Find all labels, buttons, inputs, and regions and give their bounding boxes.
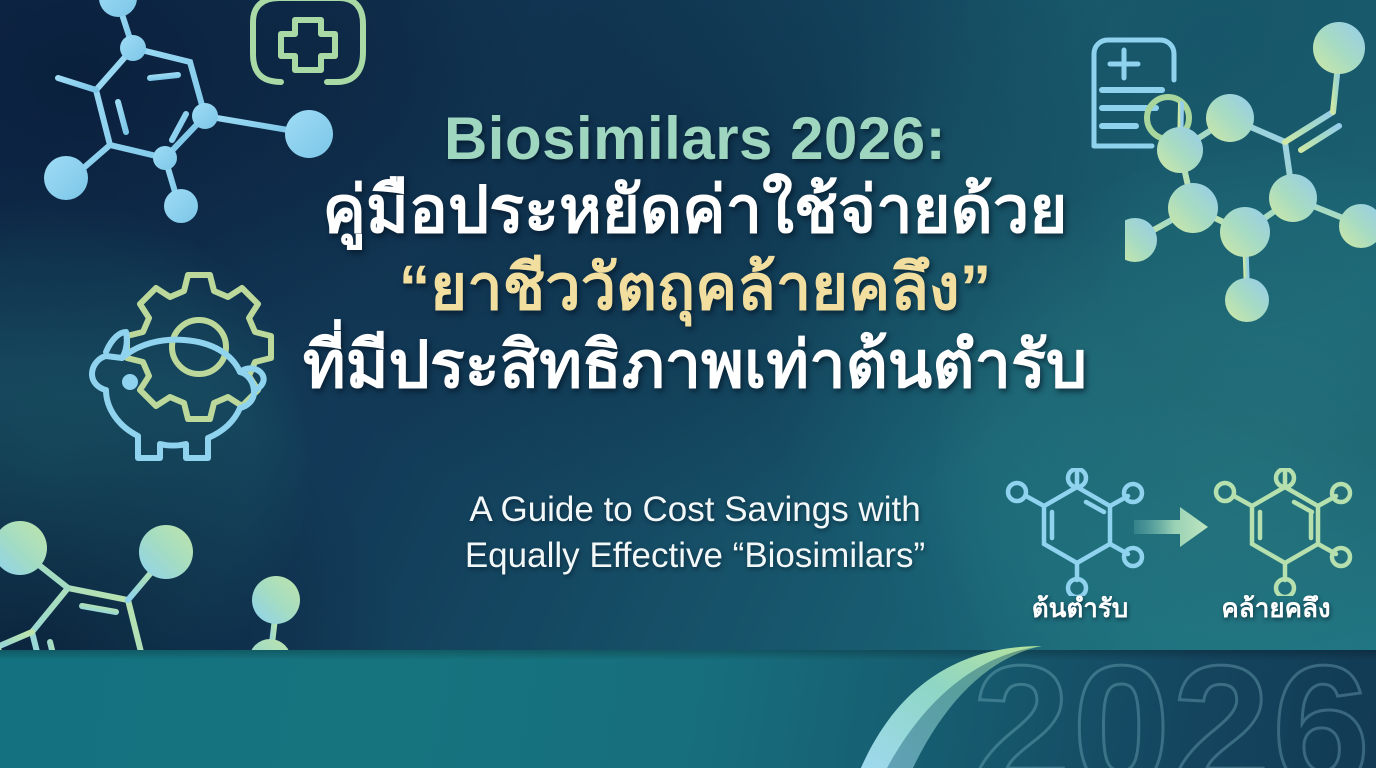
molecule-comparison: ต้นตำรับ คล้ายคลึง <box>1000 468 1370 628</box>
subtitle-line-1: A Guide to Cost Savings with <box>320 487 1070 533</box>
subtitle-line-2: Equally Effective “Biosimilars” <box>320 533 1070 579</box>
poster-content: Biosimilars 2026: คู่มือประหยัดค่าใช้จ่า… <box>0 0 1376 650</box>
title-thai-line-3: ที่มีประสิทธิภาพเท่าต้นตำรับ <box>255 327 1135 404</box>
title-thai-line-2-highlight: “ยาชีววัตถุคล้ายคลึง” <box>255 251 1135 325</box>
biosimilar-label: คล้ายคลึง <box>1188 588 1364 629</box>
arrow-right-icon <box>1132 502 1212 552</box>
title-english: Biosimilars 2026: <box>255 108 1135 170</box>
subtitle-block: A Guide to Cost Savings with Equally Eff… <box>320 487 1070 579</box>
title-thai-line-1: คู่มือประหยัดค่าใช้จ่ายด้วย <box>255 172 1135 249</box>
poster-banner: 2026 Biosimilars 2026: คู่มือประหยัดค่าใ… <box>0 0 1376 768</box>
original-label: ต้นตำรับ <box>1000 588 1160 629</box>
biosimilar-molecule-icon <box>1208 468 1358 596</box>
title-block: Biosimilars 2026: คู่มือประหยัดค่าใช้จ่า… <box>255 108 1135 404</box>
original-molecule-icon <box>1000 468 1150 596</box>
watermark-year: 2026 <box>972 640 1372 768</box>
